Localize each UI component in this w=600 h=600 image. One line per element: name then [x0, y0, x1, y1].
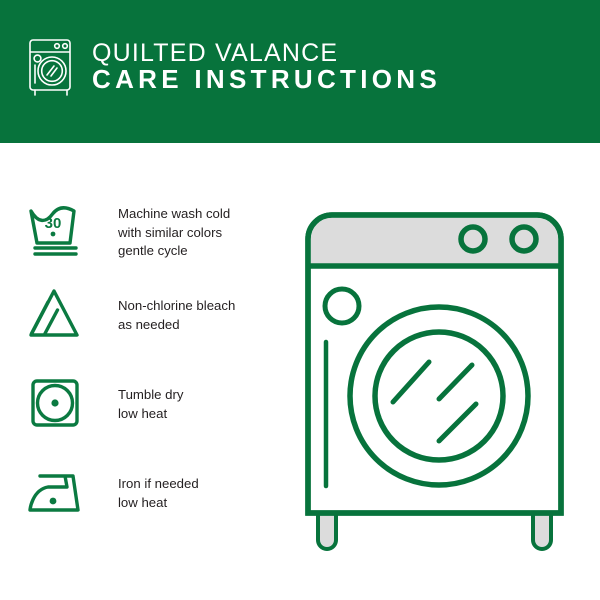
- header-title-block: QUILTED VALANCE CARE INSTRUCTIONS: [92, 41, 600, 93]
- page-subtitle: CARE INSTRUCTIONS: [92, 64, 441, 94]
- care-row-bleach: Non-chlorine bleach as needed: [26, 285, 276, 343]
- care-text-line: gentle cycle: [118, 242, 230, 261]
- care-instruction-list: 30 Machine wash cold with similar colors…: [0, 143, 290, 600]
- wash-temperature-label: 30: [45, 215, 62, 232]
- care-row-iron: Iron if needed low heat: [26, 465, 276, 523]
- care-text-line: low heat: [118, 494, 199, 513]
- iron-low-heat-icon: [26, 465, 88, 523]
- care-text-line: Machine wash cold: [118, 205, 230, 224]
- washing-machine-illustration: [296, 203, 576, 560]
- tumble-dry-low-icon: [26, 376, 88, 434]
- care-text-machine-wash: Machine wash cold with similar colors ge…: [118, 201, 230, 261]
- care-row-machine-wash: 30 Machine wash cold with similar colors…: [26, 201, 276, 261]
- care-row-tumble-dry: Tumble dry low heat: [26, 376, 276, 434]
- care-text-bleach: Non-chlorine bleach as needed: [118, 285, 235, 334]
- page-title: QUILTED VALANCE: [92, 39, 338, 67]
- care-text-line: as needed: [118, 316, 235, 335]
- header-content: QUILTED VALANCE CARE INSTRUCTIONS: [24, 36, 600, 98]
- header-banner: QUILTED VALANCE CARE INSTRUCTIONS: [0, 0, 600, 143]
- care-text-tumble-dry: Tumble dry low heat: [118, 376, 183, 423]
- care-text-line: Tumble dry: [118, 386, 183, 405]
- care-text-line: low heat: [118, 405, 183, 424]
- care-instructions-page: QUILTED VALANCE CARE INSTRUCTIONS 30: [0, 0, 600, 600]
- care-text-line: Iron if needed: [118, 475, 199, 494]
- washing-machine-icon: [24, 36, 80, 98]
- care-text-line: Non-chlorine bleach: [118, 297, 235, 316]
- care-text-iron: Iron if needed low heat: [118, 465, 199, 512]
- care-text-line: with similar colors: [118, 224, 230, 243]
- wash-tub-30-gentle-icon: 30: [26, 201, 88, 259]
- non-chlorine-bleach-triangle-icon: [26, 285, 88, 343]
